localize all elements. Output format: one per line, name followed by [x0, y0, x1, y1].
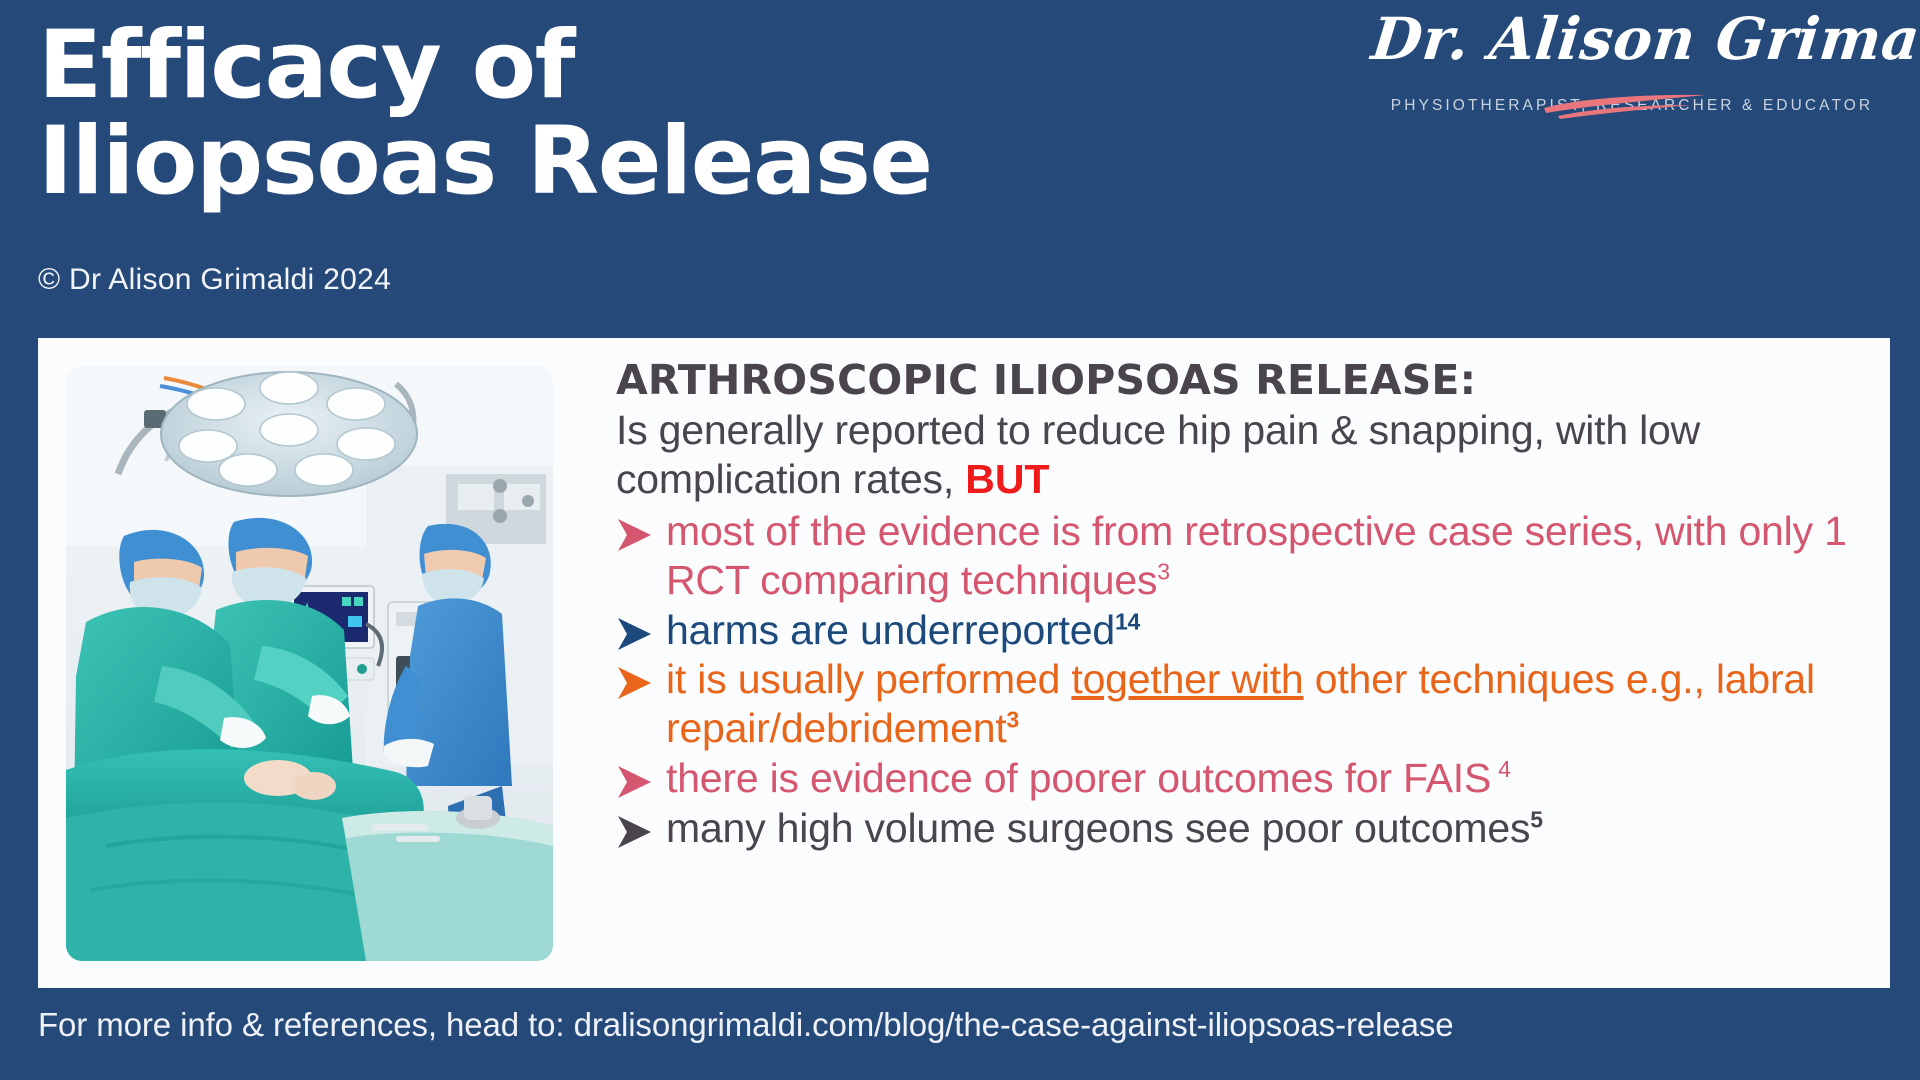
bullet-list: most of the evidence is from retrospecti… [616, 507, 1878, 852]
footer-reference-link[interactable]: For more info & references, head to: dra… [38, 1006, 1454, 1044]
logo-tagline: PHYSIOTHERAPIST, RESEARCHER & EDUCATOR [1372, 97, 1892, 115]
list-item: many high volume surgeons see poor outco… [616, 804, 1878, 853]
page-title: Efficacy of Iliopsoas Release [38, 18, 1158, 210]
lede-text: Is generally reported to reduce hip pain… [616, 407, 1700, 502]
bullet-text: many high volume surgeons see poor outco… [666, 805, 1543, 851]
infographic-canvas: Efficacy of Iliopsoas Release © Dr Aliso… [0, 0, 1920, 1080]
lede-paragraph: Is generally reported to reduce hip pain… [616, 406, 1878, 504]
list-item: most of the evidence is from retrospecti… [616, 507, 1878, 605]
logo-script-name: Dr. Alison Grimaldi [1369, 8, 1896, 71]
bullet-text: there is evidence of poorer outcomes for… [666, 755, 1511, 801]
bullet-text: it is usually performed together with ot… [666, 656, 1815, 751]
content-panel: ARTHROSCOPIC ILIOPSOAS RELEASE: Is gener… [38, 338, 1890, 988]
list-item: there is evidence of poorer outcomes for… [616, 754, 1878, 803]
list-item: harms are underreported14 [616, 606, 1878, 655]
bullet-text: harms are underreported14 [666, 607, 1140, 653]
arrow-chevron-icon [616, 518, 653, 552]
content-column: ARTHROSCOPIC ILIOPSOAS RELEASE: Is gener… [616, 356, 1878, 852]
bullet-text: most of the evidence is from retrospecti… [666, 508, 1847, 603]
operating-theatre-photo [66, 366, 553, 961]
copyright-line: © Dr Alison Grimaldi 2024 [38, 263, 391, 297]
lede-emphasis-but: BUT [965, 456, 1049, 502]
arrow-chevron-icon [616, 617, 653, 651]
arrow-chevron-icon [616, 666, 653, 700]
arrow-chevron-icon [616, 815, 653, 849]
list-item: it is usually performed together with ot… [616, 655, 1878, 753]
section-heading: ARTHROSCOPIC ILIOPSOAS RELEASE: [616, 356, 1878, 404]
arrow-chevron-icon [616, 765, 653, 799]
brand-logo: Dr. Alison Grimaldi PHYSIOTHERAPIST, RES… [1372, 8, 1892, 115]
